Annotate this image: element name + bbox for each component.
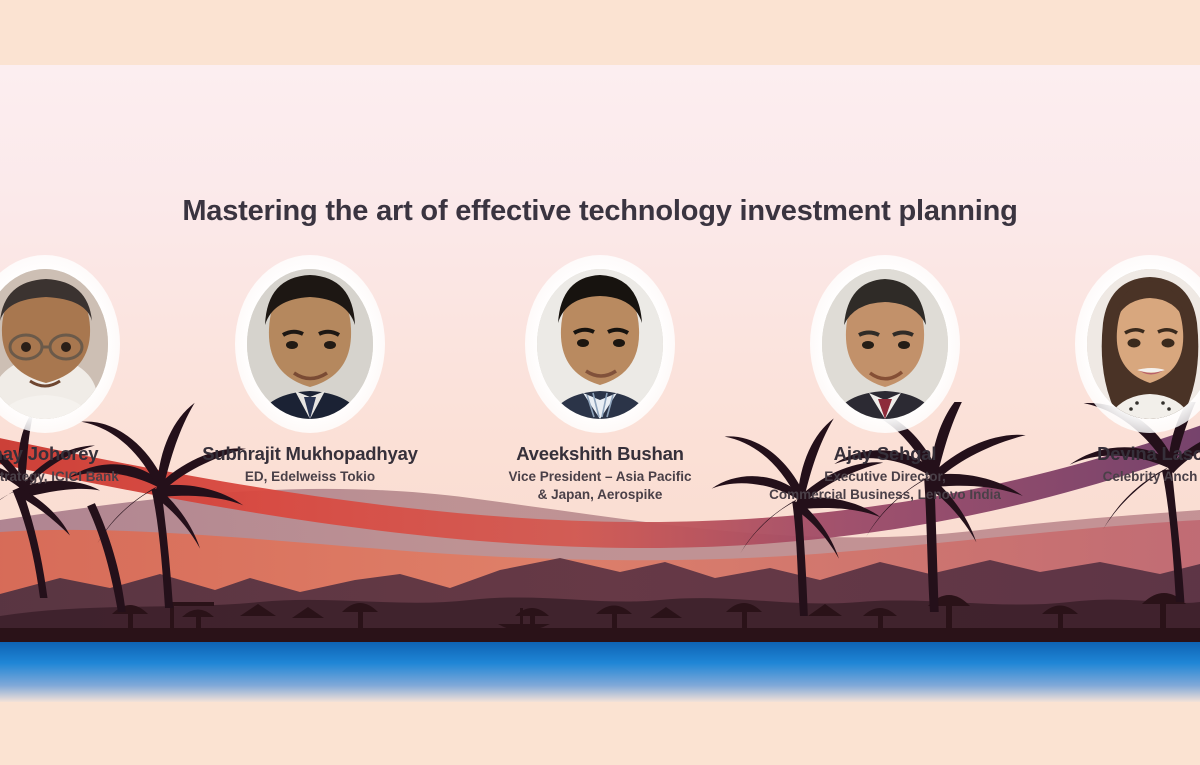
avatar-1 (247, 269, 373, 419)
speaker-name-0: hay Johorey (0, 443, 185, 464)
speaker-name-1: Subhrajit Mukhopadhyay (170, 443, 450, 464)
speaker-card-0[interactable]: hay Johorey tal Strategy, ICICI Bank (0, 255, 185, 486)
speaker-role-1: ED, Edelweiss Tokio (170, 468, 450, 486)
avatar-ring-0 (0, 255, 120, 433)
speaker-role-0: tal Strategy, ICICI Bank (0, 468, 185, 486)
avatar-ring-3 (810, 255, 960, 433)
avatar-4 (1087, 269, 1200, 419)
speaker-role-3-line2: Commercial Business, Lenovo India (745, 486, 1025, 504)
photo-subhrajit-mukhopadhyay (247, 269, 373, 419)
screenshot-canvas: Mastering the art of effective technolog… (0, 0, 1200, 765)
avatar-ring-1 (235, 255, 385, 433)
photo-abhay-johorey (0, 269, 108, 419)
speaker-role-2-line2: & Japan, Aerospike (460, 486, 740, 504)
speaker-role-3: Executive Director, (745, 468, 1025, 486)
speakers-row: hay Johorey tal Strategy, ICICI Bank (0, 255, 1200, 545)
banner-title: Mastering the art of effective technolog… (0, 195, 1200, 228)
speaker-name-2: Aveekshith Bushan (460, 443, 740, 464)
speaker-card-3[interactable]: Ajay Sehgal Executive Director, Commerci… (745, 255, 1025, 505)
speaker-role-4: Celebrity Anch (1010, 468, 1200, 486)
avatar-0 (0, 269, 108, 419)
photo-devina-lascano (1087, 269, 1200, 419)
avatar-2 (537, 269, 663, 419)
promo-banner: Mastering the art of effective technolog… (0, 65, 1200, 702)
photo-ajay-sehgal (822, 269, 948, 419)
speaker-role-2: Vice President – Asia Pacific (460, 468, 740, 486)
avatar-3 (822, 269, 948, 419)
avatar-ring-2 (525, 255, 675, 433)
photo-aveekshith-bushan (537, 269, 663, 419)
avatar-ring-4 (1075, 255, 1200, 433)
speaker-name-3: Ajay Sehgal (745, 443, 1025, 464)
speaker-card-2[interactable]: Aveekshith Bushan Vice President – Asia … (460, 255, 740, 505)
speaker-card-4[interactable]: Devina Lasc Celebrity Anch (1010, 255, 1200, 486)
speaker-card-1[interactable]: Subhrajit Mukhopadhyay ED, Edelweiss Tok… (170, 255, 450, 486)
speaker-name-4: Devina Lasc (1010, 443, 1200, 464)
